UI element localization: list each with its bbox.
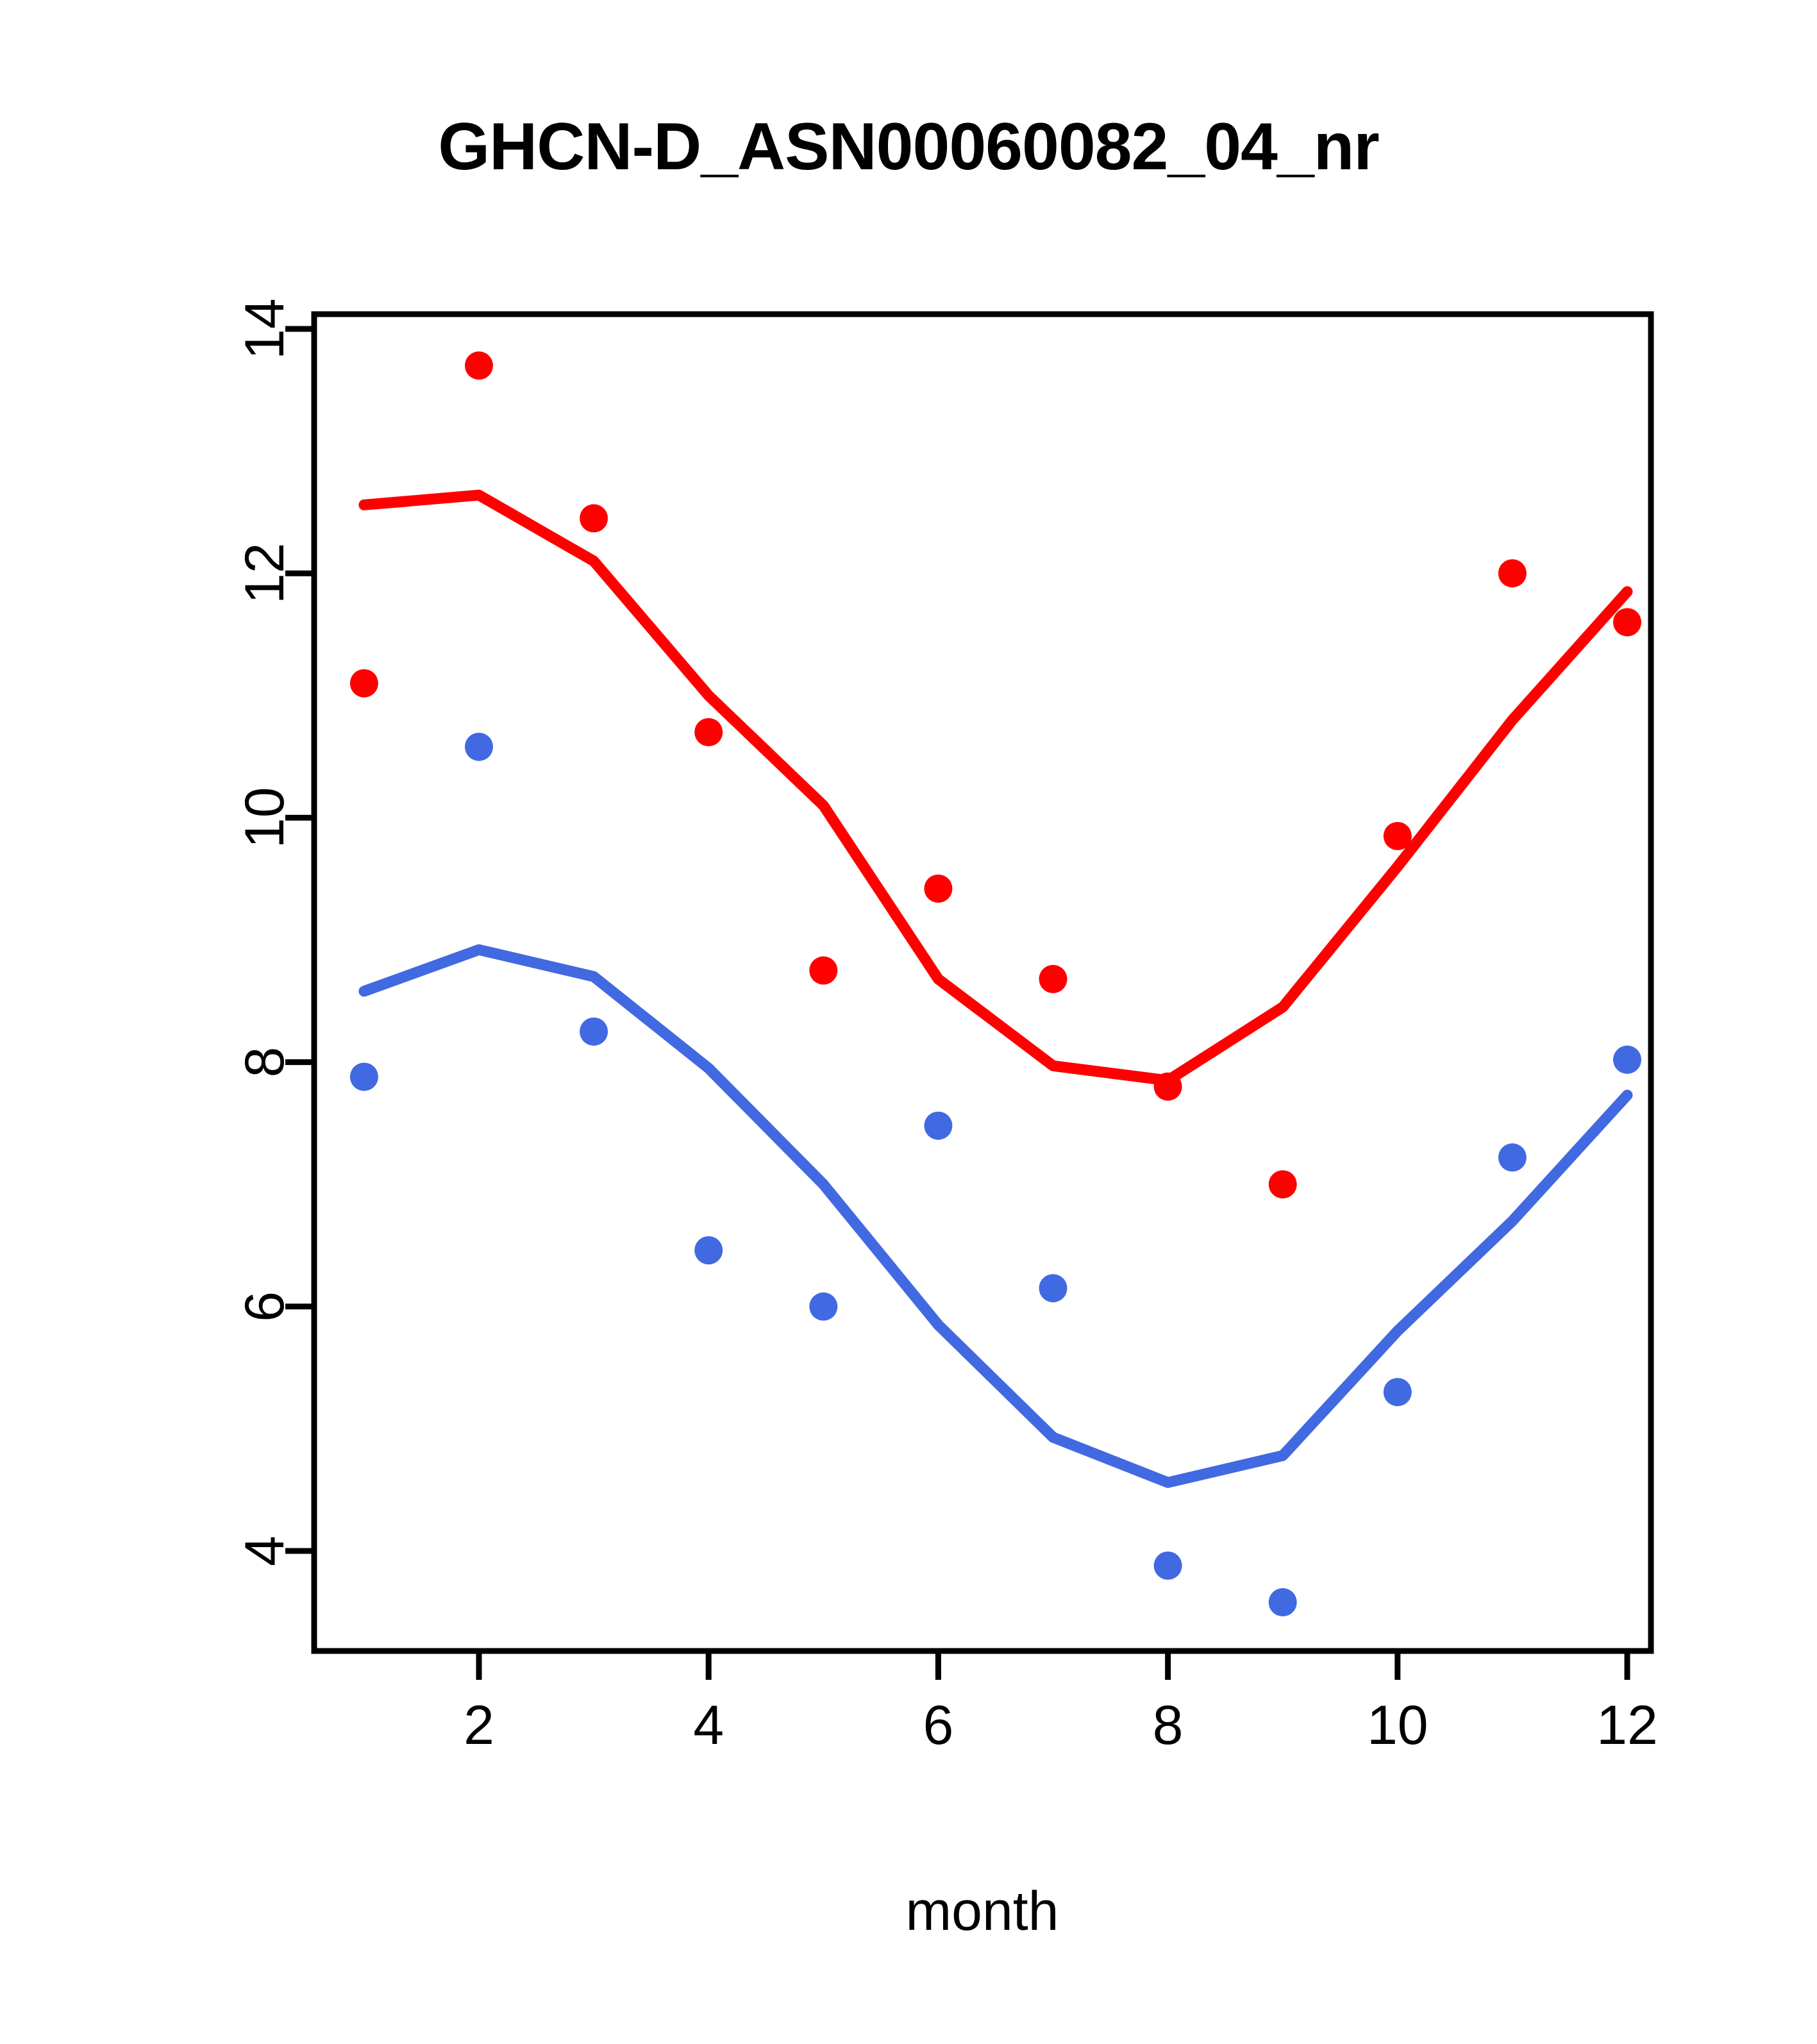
y-axis-tick-label: 10: [234, 787, 296, 849]
data-point: [809, 1293, 837, 1321]
data-point: [694, 1236, 723, 1264]
y-axis-tick-label: 6: [234, 1291, 296, 1322]
data-point: [1498, 559, 1527, 587]
data-point: [1384, 1378, 1412, 1406]
x-axis-tick-label: 4: [693, 1695, 724, 1756]
data-point: [924, 875, 952, 903]
series-line-red-line: [364, 495, 1627, 1080]
data-point: [465, 351, 493, 380]
data-point: [580, 504, 608, 532]
data-point: [350, 669, 378, 698]
x-axis: 24681012: [464, 1651, 1658, 1756]
data-point: [1154, 1073, 1182, 1101]
data-point: [465, 733, 493, 761]
data-point: [350, 1062, 378, 1091]
data-point: [1039, 965, 1068, 993]
x-axis-label: month: [905, 1881, 1059, 1942]
data-point: [809, 957, 837, 985]
y-axis-tick-label: 8: [234, 1047, 296, 1078]
data-point: [1384, 822, 1412, 850]
data-point: [1269, 1170, 1297, 1198]
y-axis: 468101214: [234, 298, 314, 1566]
x-axis-tick-label: 2: [464, 1695, 494, 1756]
y-axis-tick-label: 4: [234, 1536, 296, 1566]
data-point: [1039, 1274, 1068, 1302]
data-point: [924, 1112, 952, 1140]
data-point: [694, 718, 723, 746]
series-layer: [350, 351, 1641, 1616]
x-axis-tick-label: 12: [1596, 1695, 1658, 1756]
data-point: [1154, 1552, 1182, 1580]
x-axis-tick-label: 8: [1153, 1695, 1184, 1756]
series-line-blue-line: [364, 950, 1627, 1482]
data-point: [580, 1018, 608, 1046]
x-axis-tick-label: 6: [923, 1695, 953, 1756]
figure-canvas: GHCN-D_ASN00060082_04_nr 468101214 24681…: [0, 0, 1817, 2044]
data-point: [1498, 1143, 1527, 1171]
x-axis-tick-label: 10: [1367, 1695, 1428, 1756]
y-axis-tick-label: 14: [234, 298, 296, 360]
y-axis-tick-label: 12: [234, 542, 296, 604]
plot-area: 468101214 24681012 month: [0, 0, 1817, 2044]
data-point: [1613, 608, 1641, 636]
data-point: [1613, 1046, 1641, 1074]
data-point: [1269, 1588, 1297, 1616]
